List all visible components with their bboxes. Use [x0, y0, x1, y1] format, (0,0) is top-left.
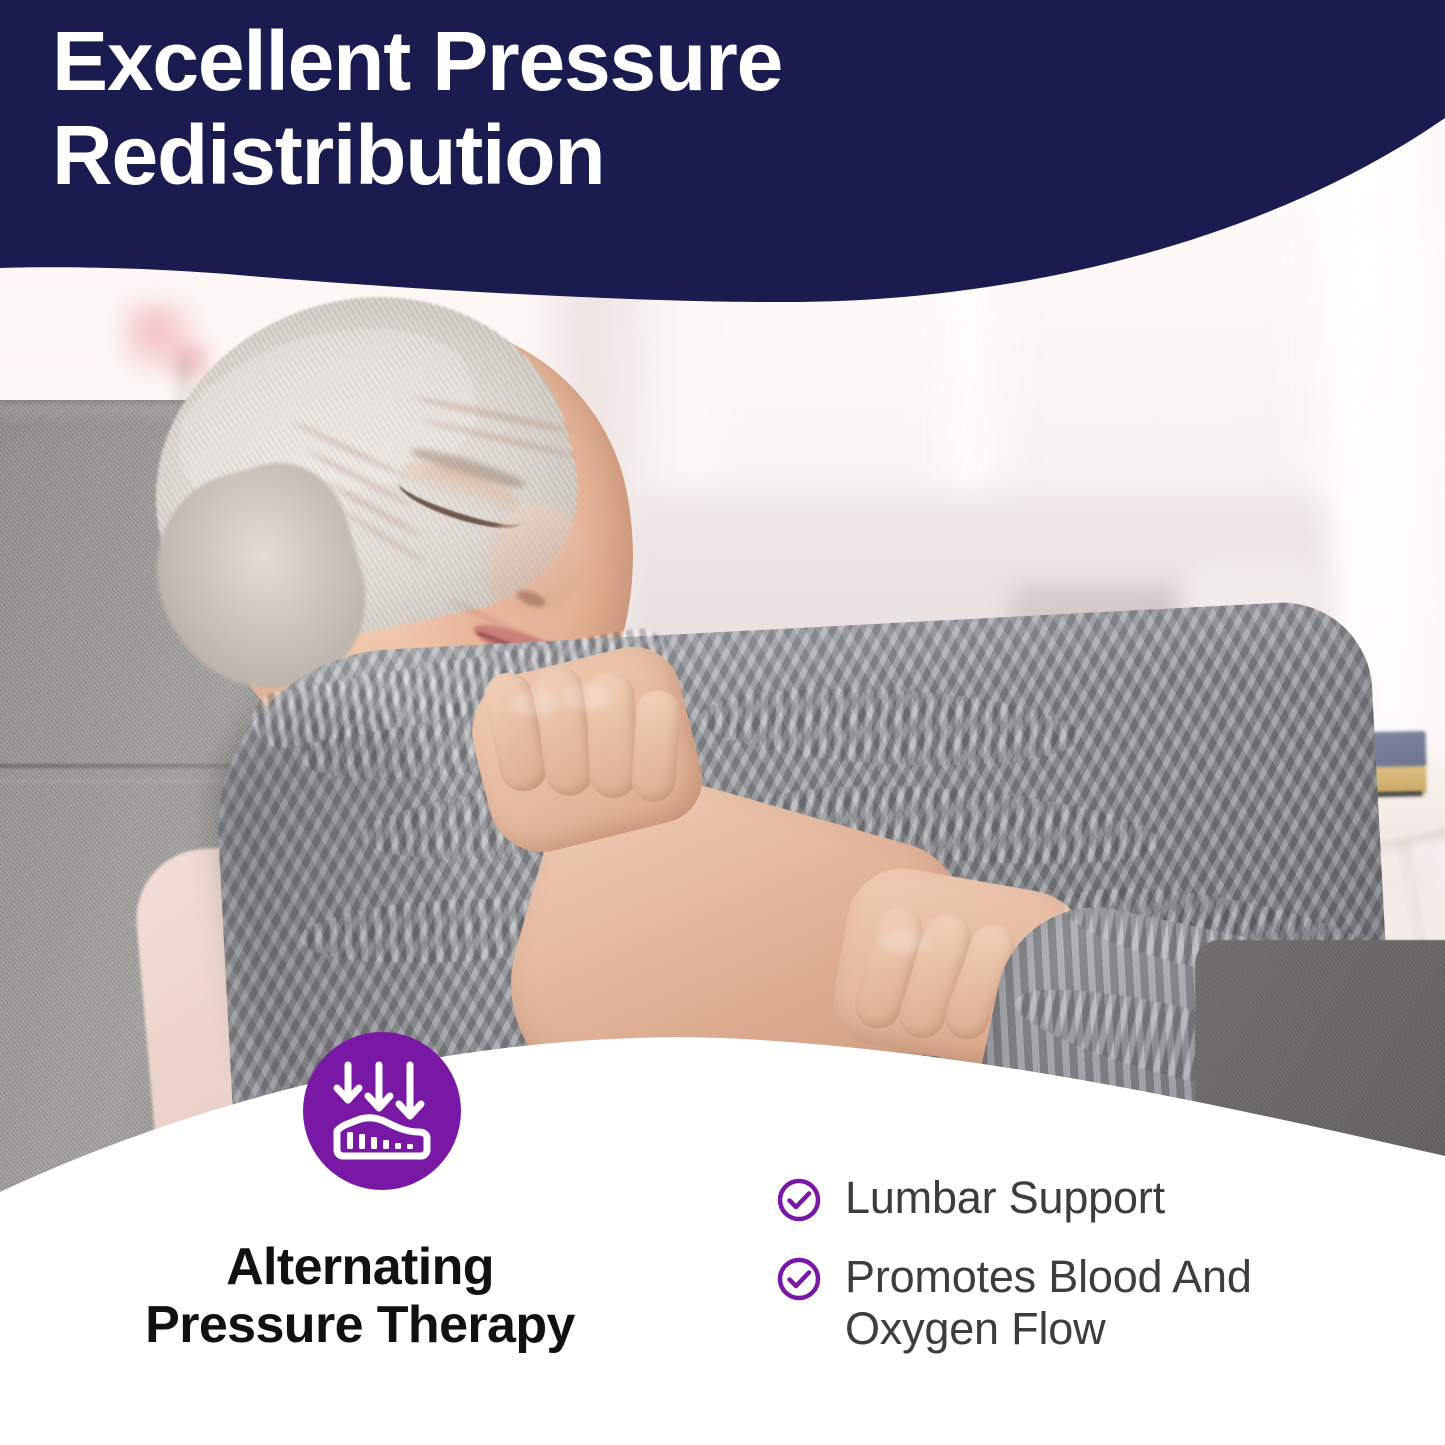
feature-title: Alternating Pressure Therapy	[20, 1238, 700, 1354]
check-circle-icon	[775, 1255, 823, 1308]
check-circle-icon	[775, 1176, 823, 1229]
list-item-label: Promotes Blood And Oxygen Flow	[845, 1251, 1252, 1355]
alternating-pressure-mattress-icon	[326, 1059, 438, 1163]
alternating-pressure-badge	[303, 1032, 461, 1190]
knuckle	[510, 690, 560, 716]
finger	[630, 689, 682, 804]
list-item: Lumbar Support	[775, 1172, 1415, 1229]
list-item-label: Lumbar Support	[845, 1172, 1165, 1224]
benefits-list: Lumbar Support Promotes Blood And Oxygen…	[775, 1172, 1415, 1377]
product-feature-banner: Excellent Pressure Redistribution	[0, 0, 1445, 1445]
knuckle	[562, 684, 612, 710]
list-item: Promotes Blood And Oxygen Flow	[775, 1251, 1415, 1355]
knuckle	[880, 930, 928, 954]
